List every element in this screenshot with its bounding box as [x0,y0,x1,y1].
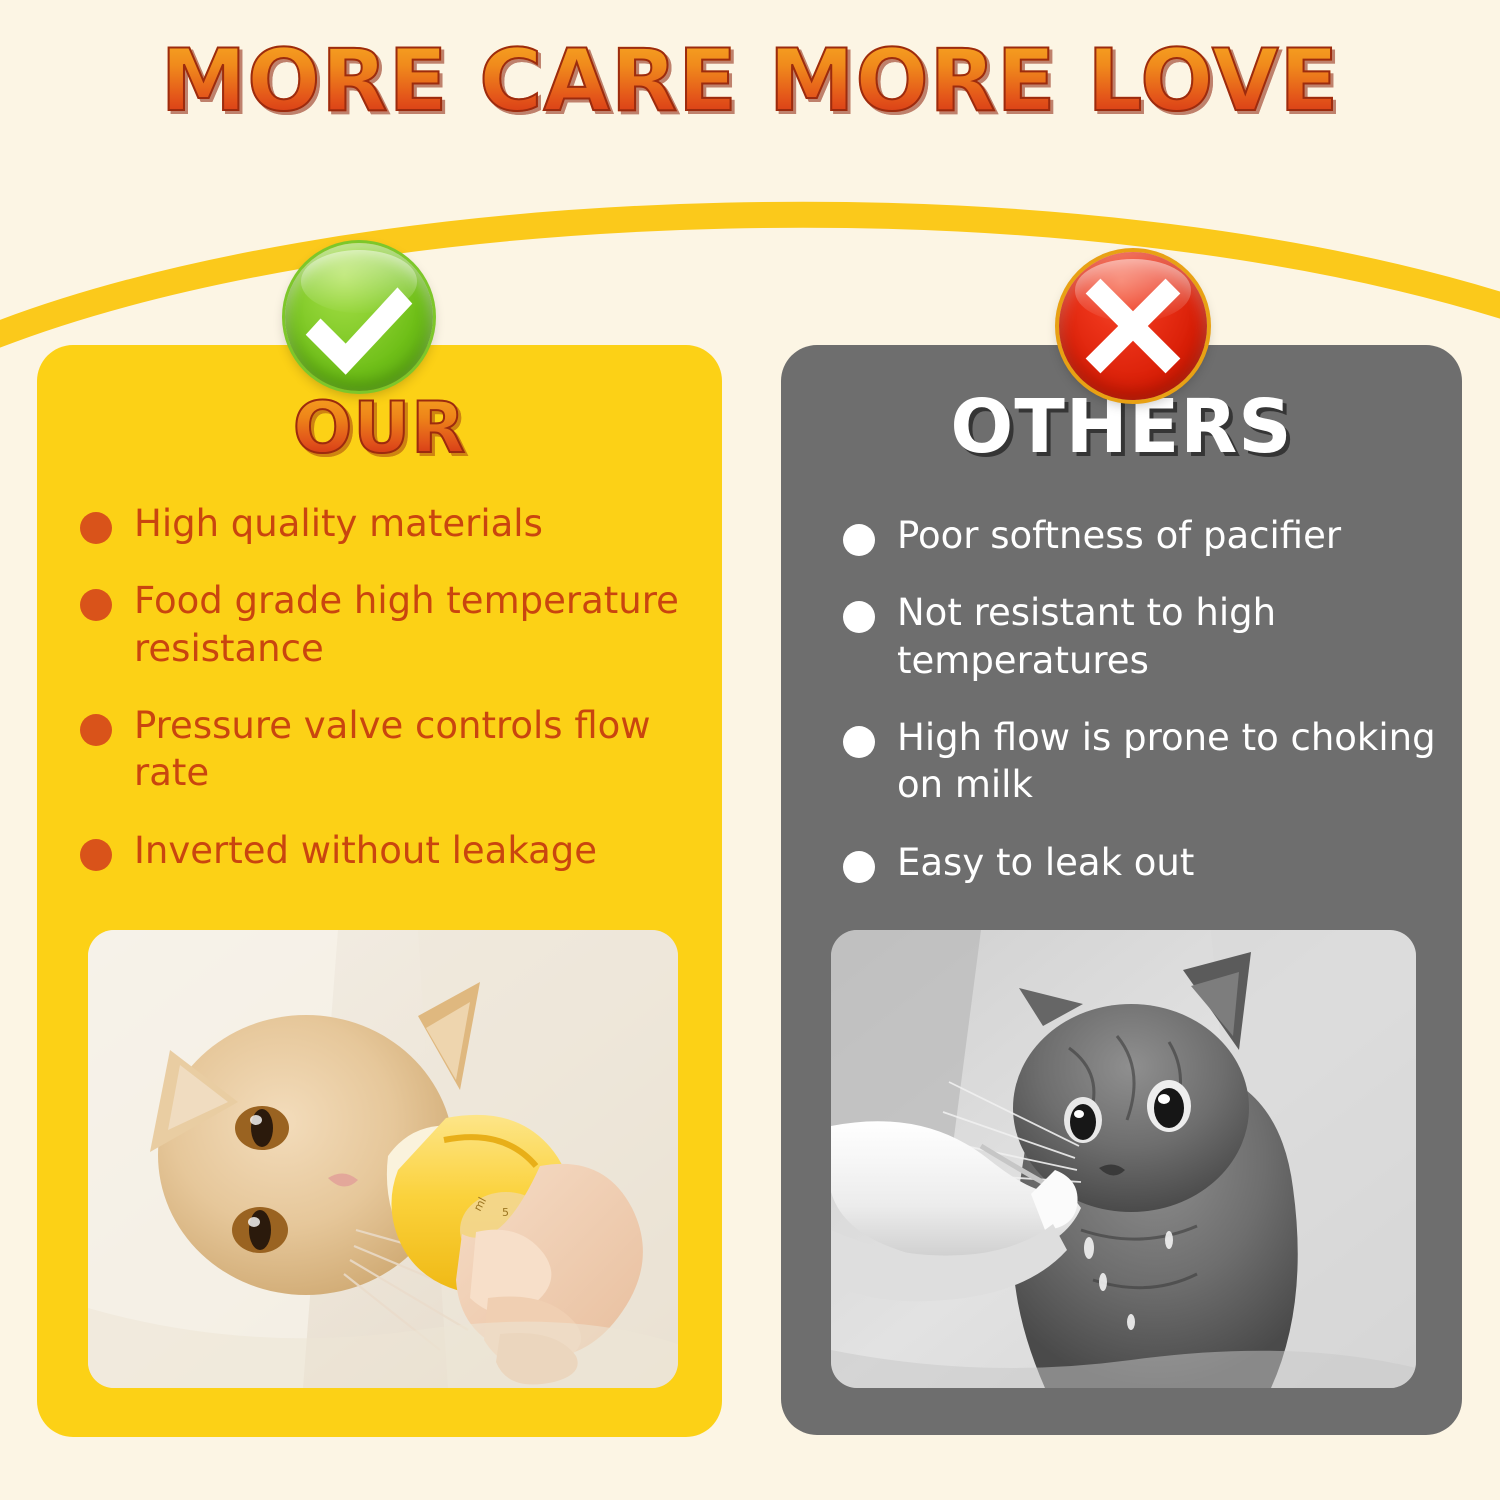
list-item: Inverted without leakage [80,827,700,874]
list-item: Poor softness of pacifier [843,512,1453,559]
list-item-label: Pressure valve controls flow rate [134,702,700,797]
bullet-dot-icon [80,512,112,544]
photo-our: ml 5 0 5 [88,930,678,1388]
heading-our: OUR [37,393,722,463]
heading-others: OTHERS [781,390,1462,464]
list-item: Not resistant to high temperatures [843,589,1453,684]
bullet-list-our: High quality materials Food grade high t… [80,500,700,904]
comparison-infographic: MORE CARE MORE LOVE OUR High quality mat… [0,0,1500,1500]
green-check-badge-icon [285,243,433,391]
list-item-label: High flow is prone to choking on milk [897,714,1453,809]
bullet-dot-icon [843,524,875,556]
page-title-text: MORE CARE MORE LOVE [161,38,1340,124]
list-item: Food grade high temperature resistance [80,577,700,672]
list-item-label: Poor softness of pacifier [897,512,1341,559]
photo-others [831,930,1416,1388]
bullet-list-others: Poor softness of pacifier Not resistant … [843,512,1453,916]
list-item-label: Easy to leak out [897,839,1194,886]
svg-text:5: 5 [502,1206,509,1219]
bullet-dot-icon [843,601,875,633]
list-item-label: High quality materials [134,500,543,547]
list-item-label: Food grade high temperature resistance [134,577,700,672]
list-item: High flow is prone to choking on milk [843,714,1453,809]
list-item: Easy to leak out [843,839,1453,886]
list-item-label: Not resistant to high temperatures [897,589,1453,684]
bullet-dot-icon [80,839,112,871]
list-item: High quality materials [80,500,700,547]
bullet-dot-icon [80,714,112,746]
list-item: Pressure valve controls flow rate [80,702,700,797]
red-cross-badge-icon [1059,252,1207,400]
page-title: MORE CARE MORE LOVE [0,38,1500,124]
bullet-dot-icon [843,851,875,883]
list-item-label: Inverted without leakage [134,827,597,874]
bullet-dot-icon [843,726,875,758]
bullet-dot-icon [80,589,112,621]
